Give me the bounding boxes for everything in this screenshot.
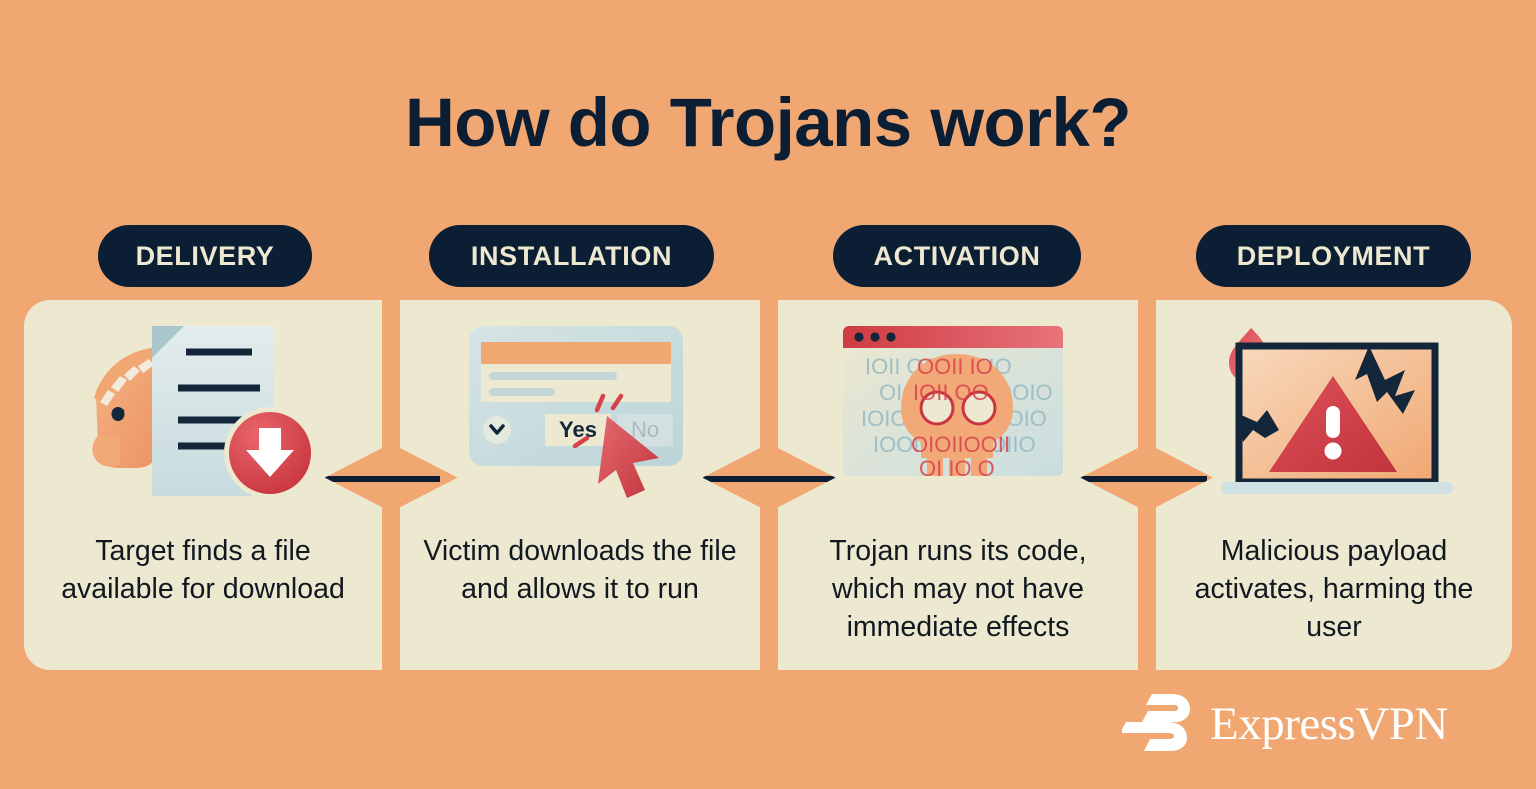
stage-badge-activation: ACTIVATION bbox=[833, 225, 1081, 287]
stage-badge-label: ACTIVATION bbox=[874, 241, 1041, 272]
window-dots-icon bbox=[854, 332, 895, 341]
stage-card-installation: Yes No bbox=[400, 300, 760, 670]
stage-badge-label: INSTALLATION bbox=[471, 241, 672, 272]
stage-card-row: Target finds a file available for downlo… bbox=[0, 300, 1536, 670]
illustration-trojan-horse-document bbox=[24, 318, 382, 518]
illustration-cracked-laptop bbox=[1156, 318, 1512, 518]
stage-badge-label: DELIVERY bbox=[136, 241, 275, 272]
dialog-no-label: No bbox=[631, 417, 659, 442]
stage-badge-installation: INSTALLATION bbox=[429, 225, 714, 287]
stage-badge-row: DELIVERY INSTALLATION ACTIVATION DEPLOYM… bbox=[0, 225, 1536, 287]
stage-card-delivery: Target finds a file available for downlo… bbox=[24, 300, 382, 670]
brand-wordmark: ExpressVPN bbox=[1210, 701, 1448, 748]
stage-card-activation: IOII OOII IO IO OIOIOIIOOIOOIO IOIOIOOIO… bbox=[778, 300, 1138, 670]
svg-text:IOII OO: IOII OO bbox=[913, 380, 989, 405]
stage-badge-deployment: DEPLOYMENT bbox=[1196, 225, 1471, 287]
download-icon bbox=[224, 407, 316, 499]
laptop-icon bbox=[1221, 346, 1453, 494]
illustration-install-dialog: Yes No bbox=[400, 318, 760, 518]
stage-caption-installation: Victim downloads the file and allows it … bbox=[400, 532, 760, 608]
stage-badge-delivery: DELIVERY bbox=[98, 225, 312, 287]
chevron-down-icon bbox=[483, 416, 511, 444]
svg-text:OI IO O: OI IO O bbox=[919, 456, 995, 481]
infographic-canvas: How do Trojans work? DELIVERY INSTALLATI… bbox=[0, 0, 1536, 789]
dialog-yes-label: Yes bbox=[559, 417, 597, 442]
svg-text:OIOIIOOII: OIOIIOOII bbox=[911, 432, 1010, 457]
svg-text:OOII IO: OOII IO bbox=[917, 354, 993, 379]
illustration-binary-skull: IOII OOII IO IO OIOIOIIOOIOOIO IOIOIOOIO… bbox=[778, 318, 1138, 518]
trojan-horse-icon bbox=[92, 348, 158, 468]
stage-caption-deployment: Malicious payload activates, harming the… bbox=[1156, 532, 1512, 646]
browser-window: IOII OOII IO IO OIOIOIIOOIOOIO IOIOIOOIO… bbox=[843, 326, 1063, 481]
page-title: How do Trojans work? bbox=[0, 88, 1536, 157]
stage-badge-label: DEPLOYMENT bbox=[1237, 241, 1431, 272]
dialog-yes-button: Yes bbox=[545, 414, 611, 446]
stage-caption-delivery: Target finds a file available for downlo… bbox=[24, 532, 382, 608]
brand-logo: ExpressVPN bbox=[1122, 688, 1482, 760]
stage-caption-activation: Trojan runs its code, which may not have… bbox=[778, 532, 1138, 646]
expressvpn-mark-icon bbox=[1122, 691, 1194, 758]
stage-card-deployment: Malicious payload activates, harming the… bbox=[1156, 300, 1512, 670]
